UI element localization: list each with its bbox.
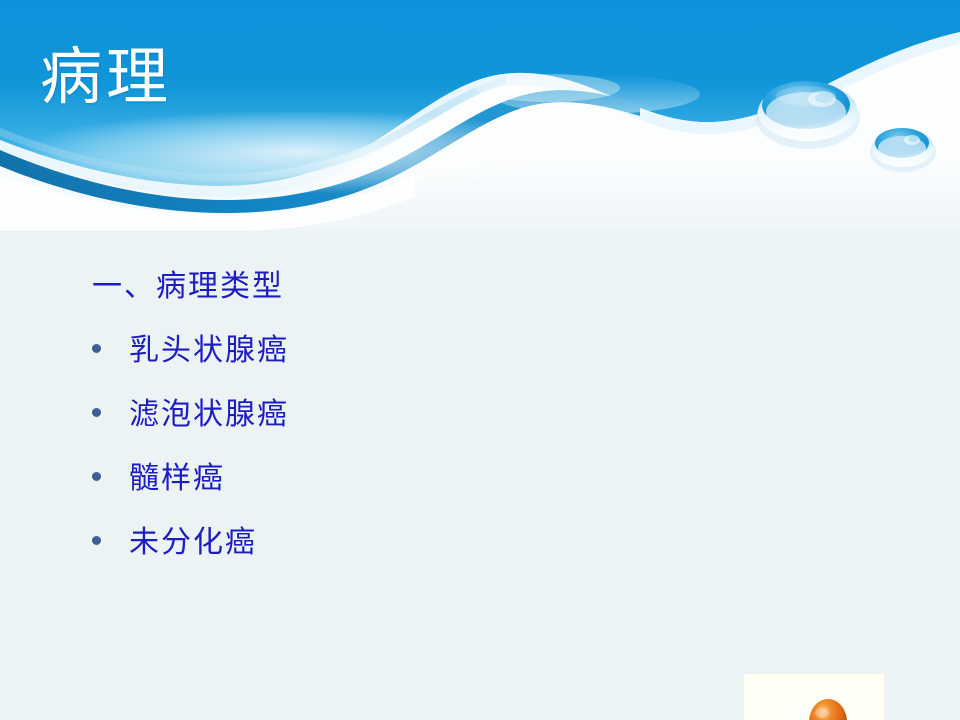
- list-item-label: 髓样癌: [129, 453, 225, 497]
- list-item: 髓样癌: [92, 453, 692, 517]
- list-item: 未分化癌: [92, 517, 692, 581]
- presentation-slide: 病理 一、病理类型 乳头状腺癌 滤泡状腺癌 髓样癌 未分化癌: [0, 0, 960, 720]
- slide-title: 病理: [40, 46, 172, 108]
- list-item: 滤泡状腺癌: [92, 389, 692, 453]
- bullet-dot-icon: [92, 472, 101, 481]
- slide-body: 一、病理类型 乳头状腺癌 滤泡状腺癌 髓样癌 未分化癌: [0, 231, 960, 720]
- water-wave-banner-graphic: [0, 0, 960, 231]
- wave-gloss-ellipse: [15, 110, 585, 194]
- bullet-dot-icon: [92, 536, 101, 545]
- slide-header-banner: 病理: [0, 0, 960, 231]
- clipart-image: [744, 674, 884, 720]
- figure-head-highlight: [815, 708, 829, 718]
- list-item: 乳头状腺癌: [92, 325, 692, 389]
- list-item-label: 未分化癌: [129, 517, 257, 561]
- wave-pool-highlight-small: [476, 74, 620, 102]
- orange-3d-figure-walking-graphic: [744, 674, 884, 720]
- content-list: 一、病理类型 乳头状腺癌 滤泡状腺癌 髓样癌 未分化癌: [92, 261, 692, 581]
- bullet-dot-icon: [92, 408, 101, 417]
- section-heading: 一、病理类型: [92, 261, 692, 325]
- bullet-dot-icon: [92, 344, 101, 353]
- list-item-label: 乳头状腺癌: [129, 325, 289, 369]
- section-heading-label: 一、病理类型: [92, 261, 284, 305]
- list-item-label: 滤泡状腺癌: [129, 389, 289, 433]
